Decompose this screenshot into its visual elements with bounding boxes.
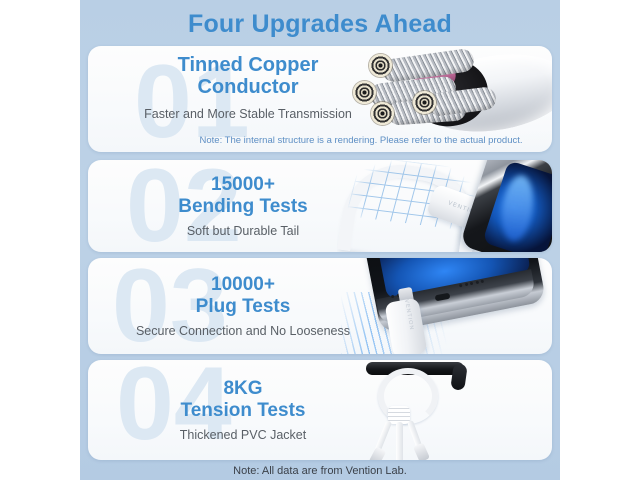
card-4-title-line-1: 8KG: [223, 378, 262, 399]
feature-card-bending-tests[interactable]: 02 VENTION 15000+ Bending Tests Soft but…: [88, 160, 552, 252]
connector-tip-right: [413, 442, 430, 460]
feature-card-tinned-copper-conductor[interactable]: 01 Tinned Copper Conductor Faster and Mo…: [88, 46, 552, 152]
connector-tip-left: [369, 446, 387, 460]
page-title: Four Upgrades Ahead: [80, 6, 560, 42]
card-4-subtitle: Thickened PVC Jacket: [180, 428, 306, 442]
card-1-title-line-2: Conductor: [197, 76, 298, 98]
phone-plug-image: VENTION: [337, 258, 552, 354]
card-1-title-line-1: Tinned Copper: [178, 54, 319, 76]
card-3-subtitle: Secure Connection and No Looseness: [136, 324, 350, 338]
card-1-note: Note: The internal structure is a render…: [176, 135, 546, 146]
card-2-title-line-2: Bending Tests: [178, 196, 308, 217]
copper-strand-tip-3: [371, 102, 394, 125]
footer-note: Note: All data are from Vention Lab.: [80, 462, 560, 480]
card-3-title-line-2: Plug Tests: [196, 296, 291, 317]
card-3-title: 10000+ Plug Tests: [196, 274, 291, 317]
bar-end-shape: [450, 363, 467, 391]
copper-strand-tip-4: [413, 91, 436, 114]
card-2-title: 15000+ Bending Tests: [178, 174, 308, 217]
cable-weight-image: [322, 360, 552, 460]
card-4-title-line-2: Tension Tests: [181, 400, 306, 421]
bent-cable-phone-image: VENTION: [337, 160, 552, 252]
card-1-title: Tinned Copper Conductor: [178, 54, 319, 99]
feature-card-plug-tests[interactable]: 03 VENTION 10000+ Plug Tests Secure Conn…: [88, 258, 552, 354]
card-1-subtitle: Faster and More Stable Transmission: [144, 107, 352, 121]
cable-stem: [396, 422, 403, 460]
copper-strand-tip-2: [353, 81, 376, 104]
card-2-subtitle: Soft but Durable Tail: [187, 224, 299, 238]
card-4-title: 8KG Tension Tests: [181, 378, 306, 421]
card-3-title-line-1: 10000+: [211, 274, 275, 295]
feature-card-tension-tests[interactable]: 04 8KG Tension Tests Thickened PVC Jacke…: [88, 360, 552, 460]
card-2-title-line-1: 15000+: [211, 174, 275, 195]
infographic-stage: Four Upgrades Ahead 01 Tinned Copper Con…: [0, 0, 640, 480]
